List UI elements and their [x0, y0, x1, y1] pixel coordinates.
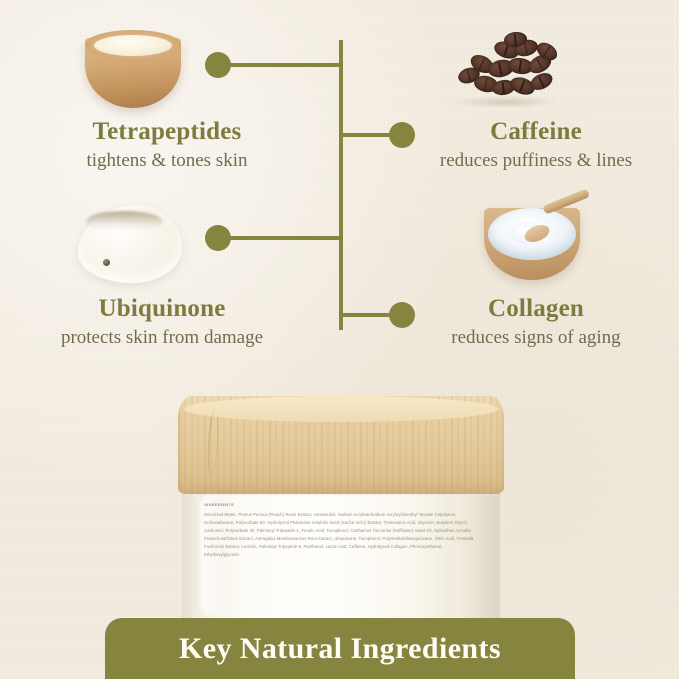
- ingredient-block-tetrapeptides: Tetrapeptides tightens & tones skin: [8, 118, 326, 172]
- jar-ingredients-label: INGREDIENTS Deionized Water, Prunus Pers…: [204, 502, 478, 559]
- ingredient-block-collagen: Collagen reduces signs of aging: [400, 295, 672, 349]
- ingredient-description-collagen: reduces signs of aging: [400, 327, 672, 350]
- jar-lid-top-surface: [184, 396, 498, 422]
- ingredient-name-tetrapeptides: Tetrapeptides: [8, 118, 326, 146]
- diagram-dot-tetrapeptides: [205, 52, 231, 78]
- ingredient-name-caffeine: Caffeine: [400, 118, 672, 146]
- gel-droplet-icon: [78, 205, 182, 283]
- ingredient-block-caffeine: Caffeine reduces puffiness & lines: [400, 118, 672, 172]
- ingredient-description-tetrapeptides: tightens & tones skin: [8, 150, 326, 173]
- key-ingredients-banner: Key Natural Ingredients: [105, 618, 575, 679]
- product-jar-image: INGREDIENTS Deionized Water, Prunus Pers…: [178, 390, 504, 630]
- cream-bowl-with-spoon-icon: [484, 200, 594, 284]
- diagram-dot-ubiquinone: [205, 225, 231, 251]
- ingredient-description-ubiquinone: protects skin from damage: [2, 327, 322, 350]
- jar-ingredients-heading: INGREDIENTS: [204, 502, 478, 509]
- key-ingredients-banner-title: Key Natural Ingredients: [179, 632, 501, 666]
- ingredient-name-ubiquinone: Ubiquinone: [2, 295, 322, 323]
- coffee-beans-icon: [448, 30, 564, 110]
- jar-wooden-lid: [178, 396, 504, 494]
- wooden-bowl-cream-icon: [85, 24, 181, 110]
- jar-lid-wood-grain: [206, 410, 219, 476]
- jar-ingredients-text: Deionized Water, Prunus Persica (Peach) …: [204, 512, 473, 557]
- ingredient-block-ubiquinone: Ubiquinone protects skin from damage: [2, 295, 322, 349]
- ingredient-description-caffeine: reduces puffiness & lines: [400, 150, 672, 173]
- ingredient-name-collagen: Collagen: [400, 295, 672, 323]
